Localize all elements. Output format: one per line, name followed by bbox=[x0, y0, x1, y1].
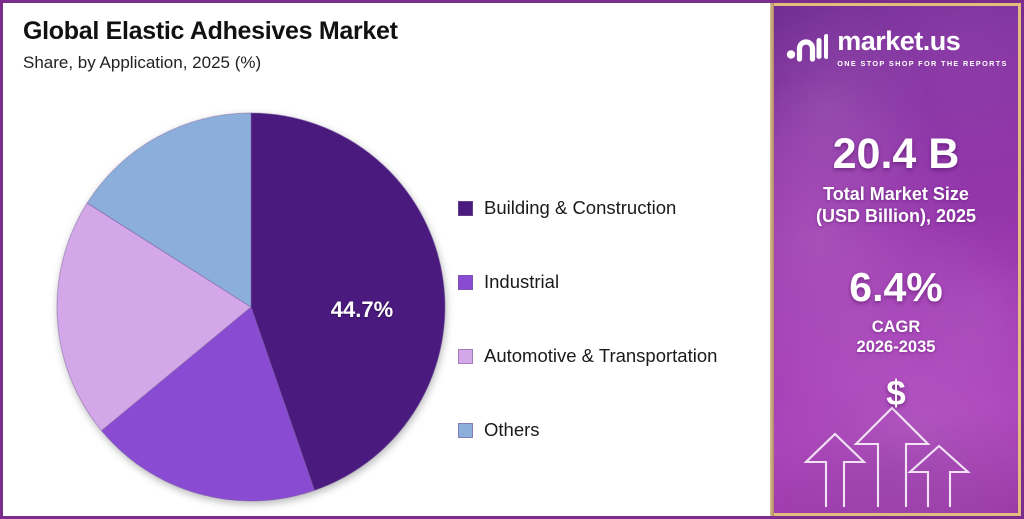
market-size-value: 20.4 B bbox=[774, 132, 1018, 177]
infographic-root: Global Elastic Adhesives Market Share, b… bbox=[0, 0, 1024, 519]
legend-swatch-icon bbox=[458, 349, 473, 364]
stats-panel: market.us ONE STOP SHOP FOR THE REPORTS … bbox=[774, 3, 1021, 516]
stat-cagr: 6.4% CAGR 2026-2035 bbox=[774, 266, 1018, 358]
legend-label: Industrial bbox=[484, 271, 559, 293]
legend-swatch-icon bbox=[458, 423, 473, 438]
legend-swatch-icon bbox=[458, 275, 473, 290]
legend-swatch-icon bbox=[458, 201, 473, 216]
legend-item-others[interactable]: Others bbox=[458, 393, 763, 467]
market-us-logo-icon bbox=[784, 30, 828, 66]
brand-text: market.us ONE STOP SHOP FOR THE REPORTS bbox=[837, 28, 1008, 68]
chart-panel: Global Elastic Adhesives Market Share, b… bbox=[3, 3, 770, 516]
cagr-caption-line2: 2026-2035 bbox=[857, 338, 936, 356]
dollar-sign-icon: $ bbox=[774, 374, 1018, 414]
cagr-caption-line1: CAGR bbox=[872, 318, 921, 336]
market-size-caption: Total Market Size (USD Billion), 2025 bbox=[774, 184, 1018, 228]
growth-arrows-graphic: $ bbox=[774, 362, 1018, 507]
page-title: Global Elastic Adhesives Market bbox=[23, 17, 398, 46]
legend-item-industrial[interactable]: Industrial bbox=[458, 245, 763, 319]
market-size-caption-line2: (USD Billion), 2025 bbox=[816, 206, 976, 226]
arrow-right-icon bbox=[910, 446, 968, 507]
brand-tagline: ONE STOP SHOP FOR THE REPORTS bbox=[837, 59, 1008, 68]
chart-legend: Building & ConstructionIndustrialAutomot… bbox=[458, 171, 763, 467]
legend-item-automotive-transportation[interactable]: Automotive & Transportation bbox=[458, 319, 763, 393]
pie-chart: 44.7% bbox=[55, 111, 447, 503]
cagr-caption: CAGR 2026-2035 bbox=[774, 317, 1018, 358]
cagr-value: 6.4% bbox=[774, 266, 1018, 309]
legend-label: Automotive & Transportation bbox=[484, 345, 717, 367]
legend-item-building-construction[interactable]: Building & Construction bbox=[458, 171, 763, 245]
brand-name: market.us bbox=[837, 28, 960, 55]
brand-logo[interactable]: market.us ONE STOP SHOP FOR THE REPORTS bbox=[774, 28, 1018, 68]
legend-label: Others bbox=[484, 419, 540, 441]
stat-market-size: 20.4 B Total Market Size (USD Billion), … bbox=[774, 132, 1018, 228]
arrow-center-icon bbox=[856, 408, 928, 507]
market-size-caption-line1: Total Market Size bbox=[823, 184, 969, 204]
page-subtitle: Share, by Application, 2025 (%) bbox=[23, 53, 261, 73]
pie-data-label-building-construction: 44.7% bbox=[307, 297, 417, 323]
legend-label: Building & Construction bbox=[484, 197, 676, 219]
